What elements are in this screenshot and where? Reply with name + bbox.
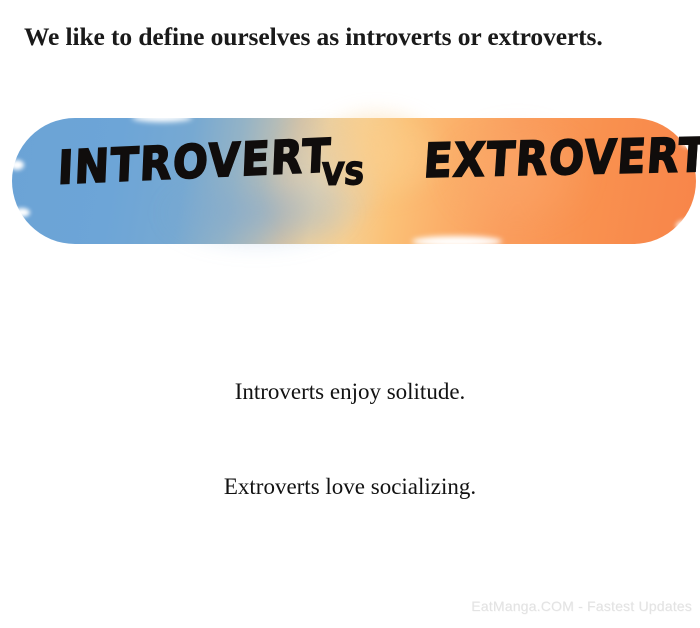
- comic-page: We like to define ourselves as introvert…: [0, 0, 700, 628]
- site-watermark: EatManga.COM - Fastest Updates: [471, 598, 692, 614]
- banner-word-introvert: INTROVERT: [57, 129, 333, 195]
- banner-lettering-group: INTROVERT VS EXTROVERT: [12, 116, 696, 248]
- page-headline: We like to define ourselves as introvert…: [24, 22, 684, 51]
- banner-word-extrovert: EXTROVERT: [422, 128, 700, 189]
- banner-word-vs: VS: [321, 156, 366, 192]
- caption-introverts: Introverts enjoy solitude.: [0, 379, 700, 405]
- introvert-vs-extrovert-banner: INTROVERT VS EXTROVERT: [12, 116, 696, 248]
- caption-extroverts: Extroverts love socializing.: [0, 474, 700, 500]
